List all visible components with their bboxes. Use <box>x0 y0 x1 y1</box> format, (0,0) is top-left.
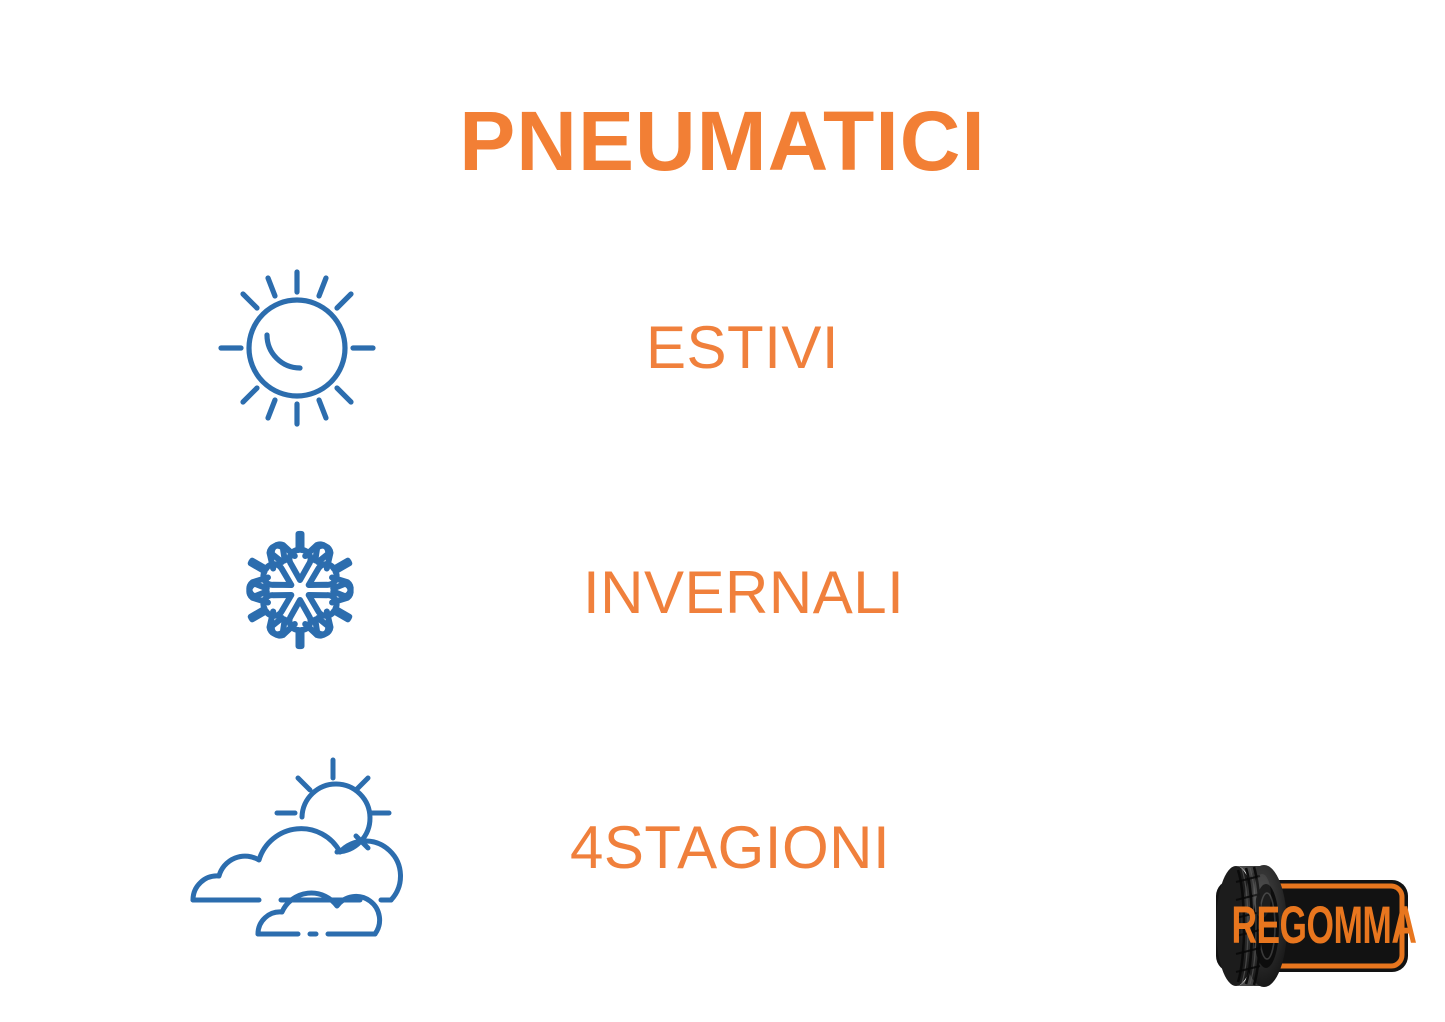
regomma-logo: REGOMMA <box>1196 856 1426 996</box>
sun-behind-clouds-icon <box>185 748 415 948</box>
tyre-category-label-summer: ESTIVI <box>646 248 839 448</box>
tyre-category-label-winter: INVERNALI <box>583 493 904 693</box>
poster-canvas: PNEUMATICI <box>0 0 1445 1022</box>
tyre-category-row-summer: ESTIVI <box>0 248 1445 448</box>
logo-wordmark: REGOMMA <box>1231 895 1416 955</box>
tyre-category-label-allseason: 4STAGIONI <box>570 748 890 948</box>
page-title: PNEUMATICI <box>0 95 1445 187</box>
sun-icon <box>185 248 415 448</box>
snowflake-icon <box>185 493 415 693</box>
tyre-category-row-winter: INVERNALI <box>0 493 1445 693</box>
